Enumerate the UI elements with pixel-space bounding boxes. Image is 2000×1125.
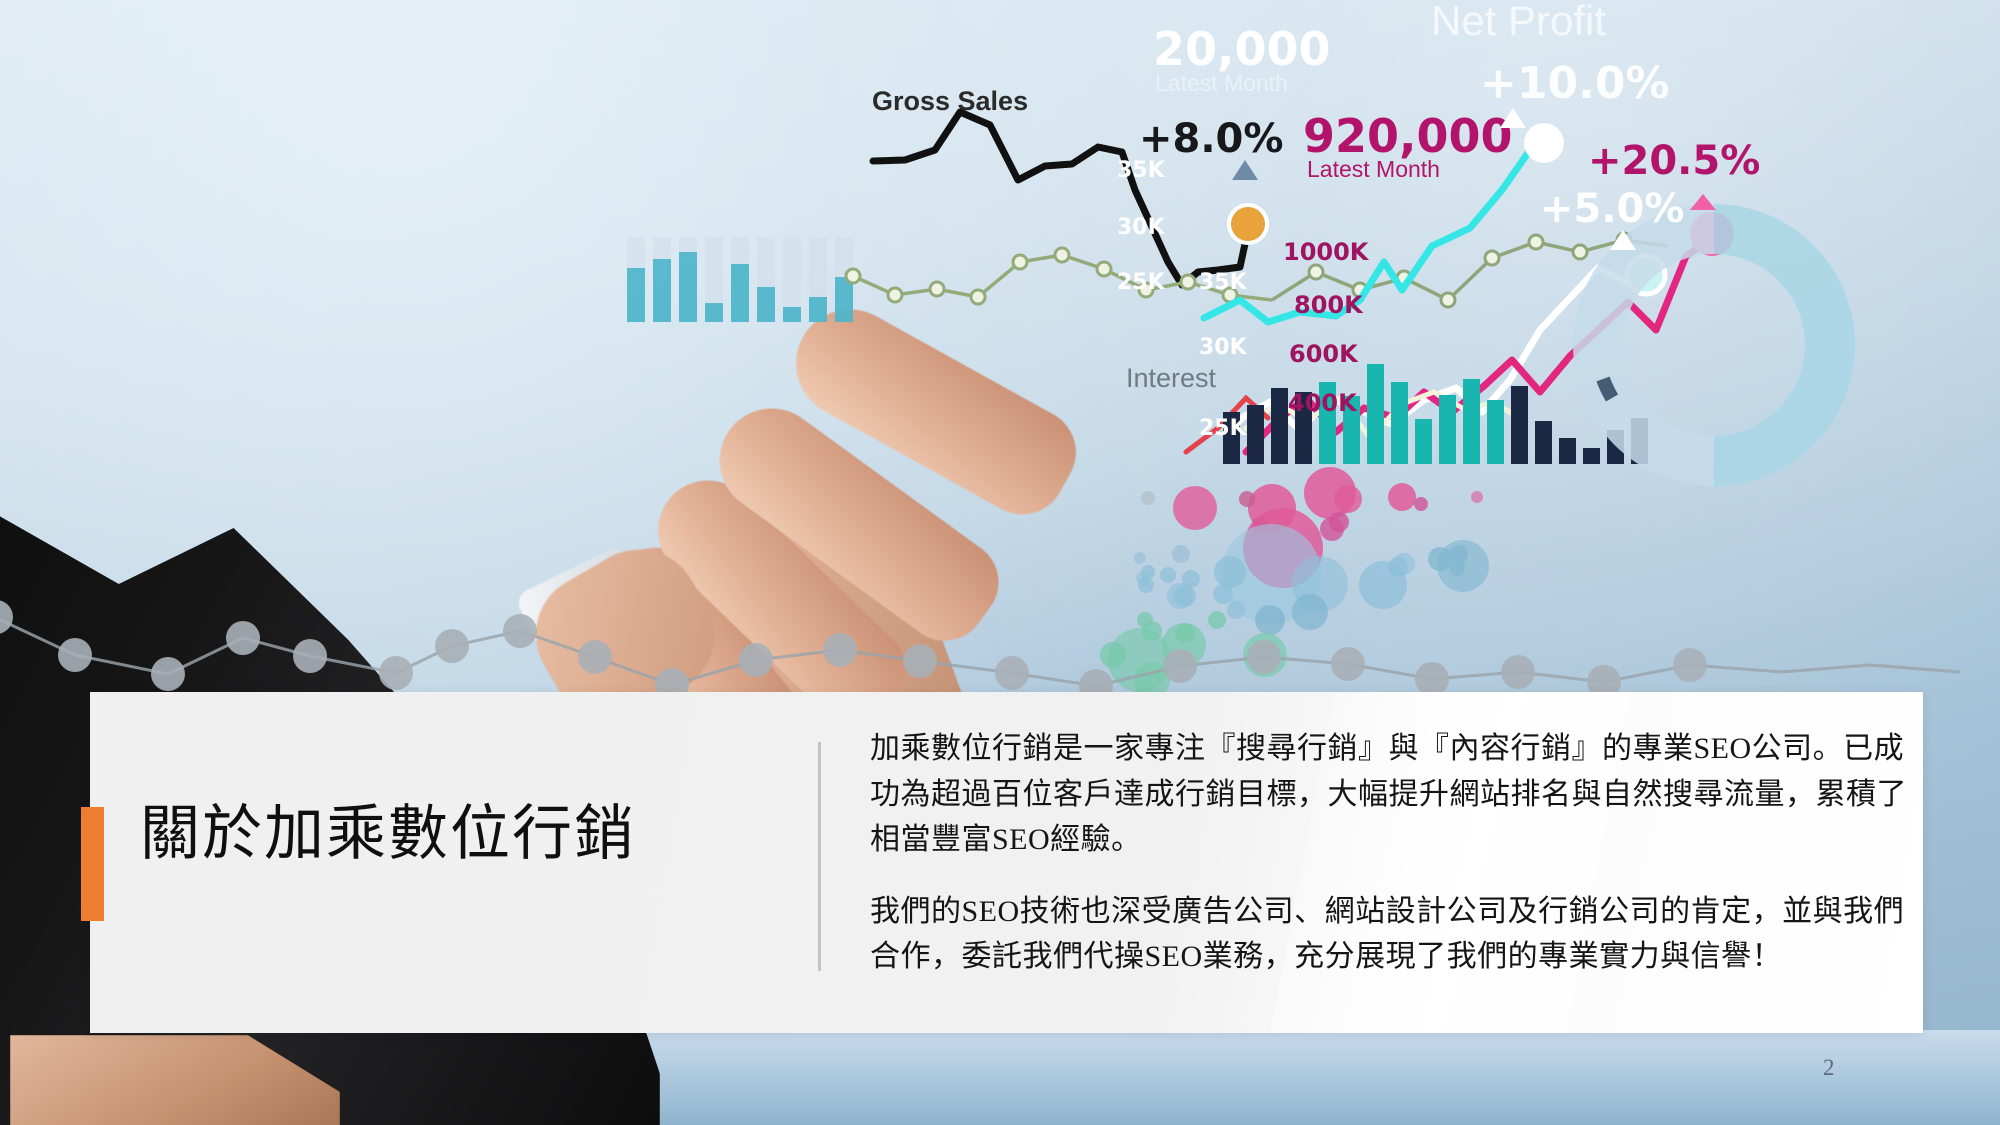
tick-30k-mid: 30K bbox=[1199, 337, 1247, 359]
body-text: 加乘數位行銷是一家專注『搜尋行銷』與『內容行銷』的專業SEO公司。已成功為超過百… bbox=[870, 726, 1910, 980]
metric-value-5pct: +5.0% bbox=[1540, 189, 1684, 229]
page-number: 2 bbox=[1823, 1055, 1835, 1081]
cyan-line-endpoint bbox=[1524, 123, 1564, 163]
up-triangle-icon-blue bbox=[1232, 160, 1258, 180]
tick-35k-mid: 35K bbox=[1199, 272, 1247, 294]
tick-25k-left: 25K bbox=[1117, 272, 1165, 294]
metric-value-10pct: +10.0% bbox=[1480, 62, 1670, 106]
tick-1000k: 1000K bbox=[1283, 240, 1368, 264]
metric-value-8pct: +8.0% bbox=[1139, 119, 1283, 159]
interest-label: Interest bbox=[1126, 365, 1216, 392]
metric-caption-920000-text: Latest Month bbox=[1307, 158, 1440, 181]
up-triangle-icon-pink bbox=[1690, 194, 1716, 210]
tick-800k: 800K bbox=[1294, 293, 1363, 317]
up-triangle-icon-white-1 bbox=[1500, 108, 1526, 128]
paragraph-2: 我們的SEO技術也深受廣告公司、網站設計公司及行銷公司的肯定，並與我們合作，委託… bbox=[870, 889, 1910, 980]
node-network-dots bbox=[0, 600, 1707, 703]
accent-bar bbox=[81, 807, 104, 921]
slide: Gross Sales Interest Net Profit 20,000 L… bbox=[0, 0, 2000, 1125]
bar-chart-light-blue bbox=[627, 237, 853, 322]
metric-value-20000: 20,000 bbox=[1153, 26, 1331, 72]
up-triangle-icon-white-2 bbox=[1610, 230, 1636, 250]
tick-35k-left: 35K bbox=[1117, 160, 1165, 182]
gross-sales-label: Gross Sales bbox=[872, 88, 1028, 115]
tick-600k: 600K bbox=[1289, 342, 1358, 366]
metric-caption-20000: Latest Month bbox=[1155, 72, 1288, 95]
paragraph-1: 加乘數位行銷是一家專注『搜尋行銷』與『內容行銷』的專業SEO公司。已成功為超過百… bbox=[870, 726, 1910, 863]
net-profit-label: Net Profit bbox=[1431, 0, 1606, 42]
page-title: 關於加乘數位行銷 bbox=[140, 800, 780, 869]
tick-400k: 400K bbox=[1288, 391, 1357, 415]
donut-chart bbox=[1598, 229, 1830, 461]
gross-sales-endpoint bbox=[1229, 205, 1267, 243]
tick-25k-mid: 25K bbox=[1199, 418, 1247, 440]
vertical-divider bbox=[818, 742, 821, 971]
tick-30k-left: 30K bbox=[1117, 217, 1165, 239]
metric-value-20-5pct: +20.5% bbox=[1588, 141, 1760, 181]
metric-value-920000: 920,000 bbox=[1303, 113, 1513, 159]
